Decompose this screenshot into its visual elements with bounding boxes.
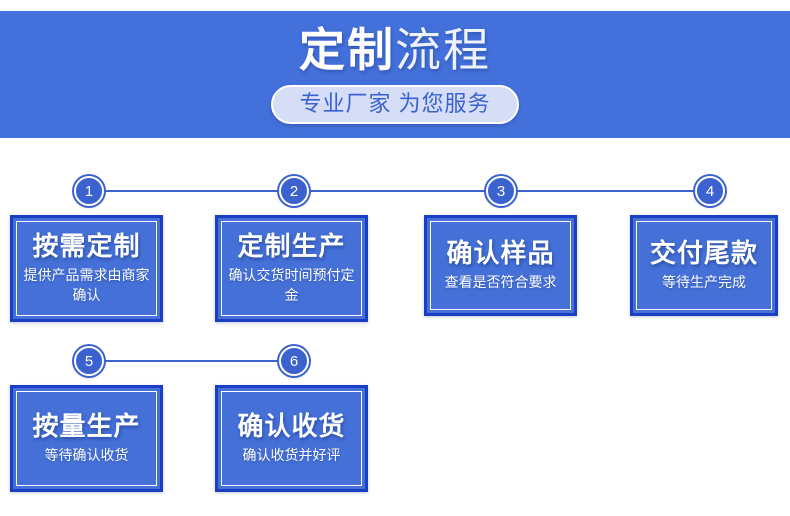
step-card-3-inner: 确认样品 查看是否符合要求	[430, 221, 571, 310]
connector-line-3-4	[516, 190, 695, 192]
step-card-6-desc: 确认收货并好评	[243, 445, 341, 465]
step-card-1[interactable]: 按需定制 提供产品需求由商家确认	[10, 215, 163, 322]
subtitle-pill: 专业厂家 为您服务	[271, 85, 518, 124]
step-number-5: 5	[76, 347, 102, 377]
step-circle-6[interactable]: 6	[279, 346, 309, 376]
step-card-4[interactable]: 交付尾款 等待生产完成	[630, 215, 778, 316]
step-circle-5[interactable]: 5	[74, 346, 104, 376]
step-card-1-desc: 提供产品需求由商家确认	[23, 265, 150, 305]
step-card-4-inner: 交付尾款 等待生产完成	[636, 221, 772, 310]
step-circle-2[interactable]: 2	[279, 176, 309, 206]
connector-line-2-3	[309, 190, 486, 192]
step-card-5-desc: 等待确认收货	[45, 445, 129, 465]
step-card-4-desc: 等待生产完成	[662, 272, 746, 292]
page-title-light: 流程	[395, 24, 491, 76]
step-card-2[interactable]: 定制生产 确认交货时间预付定金	[215, 215, 368, 322]
step-card-6-title: 确认收货	[237, 409, 345, 443]
page-title-strong: 定制	[299, 24, 395, 76]
page-title: 定制流程	[299, 23, 491, 77]
step-number-3: 3	[488, 177, 514, 207]
step-number-1: 1	[76, 177, 102, 207]
step-card-1-inner: 按需定制 提供产品需求由商家确认	[16, 221, 157, 316]
step-card-6[interactable]: 确认收货 确认收货并好评	[215, 385, 368, 492]
step-card-6-inner: 确认收货 确认收货并好评	[221, 391, 362, 486]
step-circle-1[interactable]: 1	[74, 176, 104, 206]
step-card-1-title: 按需定制	[32, 229, 140, 263]
step-card-5-title: 按量生产	[32, 409, 140, 443]
step-card-3[interactable]: 确认样品 查看是否符合要求	[424, 215, 577, 316]
step-card-4-title: 交付尾款	[650, 236, 758, 270]
step-card-2-desc: 确认交货时间预付定金	[228, 265, 355, 305]
step-card-3-title: 确认样品	[446, 236, 554, 270]
connector-line-5-6	[104, 360, 279, 362]
header-banner: 定制流程 专业厂家 为您服务	[0, 11, 790, 138]
step-number-6: 6	[281, 347, 307, 377]
subtitle-text: 专业厂家 为您服务	[299, 91, 490, 117]
step-circle-3[interactable]: 3	[486, 176, 516, 206]
step-circle-4[interactable]: 4	[695, 176, 725, 206]
step-number-4: 4	[697, 177, 723, 207]
connector-line-1-2	[104, 190, 279, 192]
step-card-2-title: 定制生产	[237, 229, 345, 263]
step-card-5[interactable]: 按量生产 等待确认收货	[10, 385, 163, 492]
step-card-3-desc: 查看是否符合要求	[445, 272, 557, 292]
step-card-2-inner: 定制生产 确认交货时间预付定金	[221, 221, 362, 316]
step-card-5-inner: 按量生产 等待确认收货	[16, 391, 157, 486]
step-number-2: 2	[281, 177, 307, 207]
